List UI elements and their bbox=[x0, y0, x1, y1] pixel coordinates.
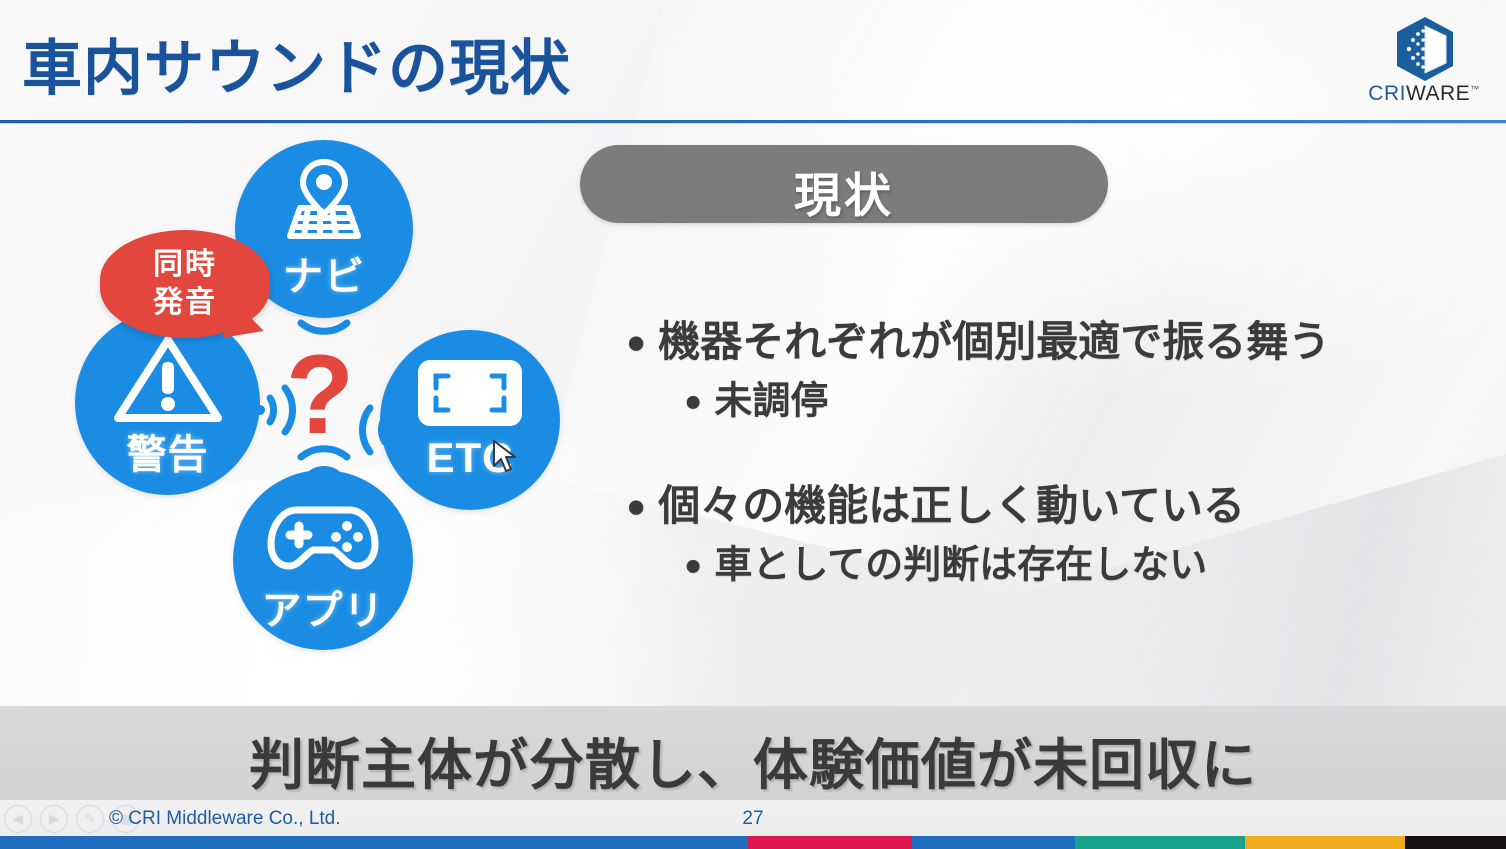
logo-trademark: ™ bbox=[1470, 84, 1480, 94]
conclusion-banner-text: 判断主体が分散し、体験価値が未回収に bbox=[0, 720, 1506, 800]
bullet-level1: ●機器それぞれが個別最適で振る舞う bbox=[626, 312, 1466, 373]
header-divider bbox=[0, 120, 1506, 123]
bullet-level2: ●未調停 bbox=[684, 373, 1466, 429]
bubble-text: 同時 発音 bbox=[100, 246, 270, 322]
logo-cri-text: CRI bbox=[1368, 82, 1406, 105]
footer-color-bar bbox=[0, 836, 1506, 849]
bullet-level1-text: 個々の機能は正しく動いている bbox=[658, 482, 1245, 529]
bar-blue-left bbox=[0, 836, 748, 849]
bullet-marker-icon: ● bbox=[626, 313, 646, 373]
bar-amber bbox=[1245, 836, 1405, 849]
bar-blue-right bbox=[912, 836, 1075, 849]
center-question-mark: ? bbox=[265, 340, 375, 450]
in-car-sound-sources-diagram: ナビ 警告 ETC bbox=[75, 135, 600, 680]
diagram-node-warning-label: 警告 bbox=[75, 422, 260, 480]
bullet-level2-text: 未調停 bbox=[714, 381, 828, 423]
bar-teal bbox=[1075, 836, 1245, 849]
game-controller-icon bbox=[261, 496, 385, 576]
bullet-marker-icon: ● bbox=[684, 537, 702, 593]
bar-black bbox=[1405, 836, 1506, 849]
bullet-group: ●個々の機能は正しく動いている ●車としての判断は存在しない bbox=[626, 476, 1466, 594]
bullet-level1: ●個々の機能は正しく動いている bbox=[626, 476, 1466, 537]
diagram-node-app-label: アプリ bbox=[233, 578, 413, 636]
page-title: 車内サウンドの現状 bbox=[22, 20, 571, 107]
bar-crimson bbox=[748, 836, 912, 849]
criware-cube-icon bbox=[1394, 16, 1456, 82]
status-badge: 現状 bbox=[580, 145, 1108, 223]
bullet-level2-text: 車としての判断は存在しない bbox=[714, 544, 1207, 586]
page-number: 27 bbox=[0, 808, 1506, 830]
warning-triangle-icon bbox=[110, 332, 226, 428]
criware-logo: CRIWARE™ bbox=[1364, 16, 1484, 114]
logo-ware-text: WARE bbox=[1406, 82, 1470, 105]
criware-wordmark: CRIWARE™ bbox=[1364, 82, 1484, 106]
slide-canvas: 車内サウンドの現状 CRIWARE™ bbox=[0, 0, 1506, 849]
bullet-list: ●機器それぞれが個別最適で振る舞う ●未調停 ●個々の機能は正しく動いている ●… bbox=[626, 312, 1466, 619]
bubble-line-2: 発音 bbox=[100, 284, 270, 322]
bullet-group: ●機器それぞれが個別最適で振る舞う ●未調停 bbox=[626, 312, 1466, 430]
conclusion-banner: 判断主体が分散し、体験価値が未回収に bbox=[0, 706, 1506, 800]
bullet-marker-icon: ● bbox=[684, 373, 702, 429]
bubble-line-1: 同時 bbox=[100, 246, 270, 284]
bullet-level1-text: 機器それぞれが個別最適で振る舞う bbox=[658, 318, 1330, 365]
status-badge-label: 現状 bbox=[580, 157, 1108, 226]
map-pin-icon bbox=[268, 156, 380, 244]
etc-card-icon bbox=[414, 356, 526, 430]
bullet-marker-icon: ● bbox=[626, 477, 646, 537]
simultaneous-sound-bubble: 同時 発音 bbox=[100, 230, 270, 338]
mouse-cursor-icon bbox=[492, 440, 518, 474]
slide-footer: ◀ ▶ ✎ ▦ © CRI Middleware Co., Ltd. 27 bbox=[0, 800, 1506, 836]
bullet-level2: ●車としての判断は存在しない bbox=[684, 537, 1466, 593]
